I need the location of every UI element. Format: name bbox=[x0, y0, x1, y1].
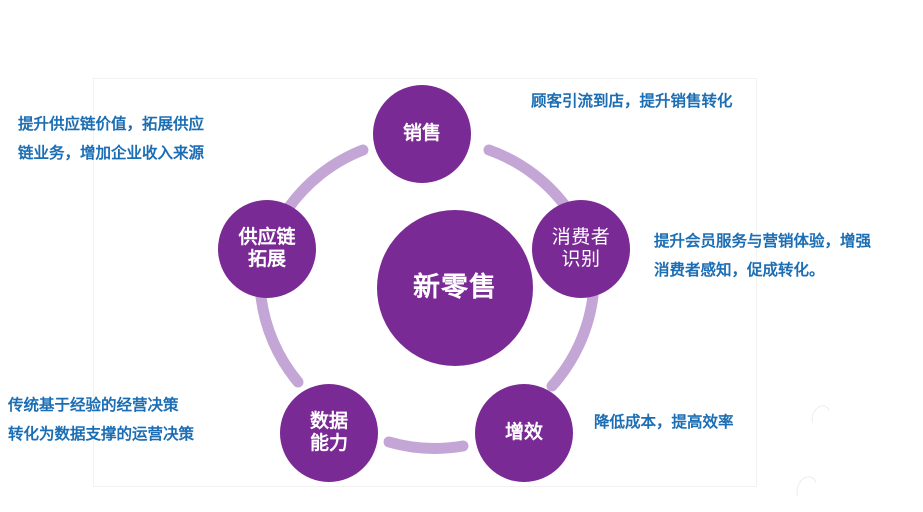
callout-supply-chain: 提升供应链价值，拓展供应 链业务，增加企业收入来源 bbox=[18, 111, 204, 168]
node-consumer-recognition[interactable]: 消费者 识别 bbox=[532, 200, 630, 298]
node-efficiency-label: 增效 bbox=[505, 422, 543, 444]
node-data-capability[interactable]: 数据 能力 bbox=[280, 384, 378, 482]
ring-arc-top-right bbox=[489, 150, 569, 211]
callout-efficiency: 降低成本，提高效率 bbox=[594, 409, 734, 438]
callout-data-capability: 传统基于经验的经营决策 转化为数据支撑的运营决策 bbox=[8, 392, 194, 449]
node-data-capability-label-line2: 能力 bbox=[310, 433, 348, 455]
node-sales-label: 销售 bbox=[403, 123, 441, 145]
node-consumer-recognition-label-line1: 消费者 bbox=[552, 227, 611, 249]
callout-consumer-recognition-line1: 提升会员服务与营销体验，增强 bbox=[654, 228, 871, 257]
node-efficiency[interactable]: 增效 bbox=[475, 384, 573, 482]
callout-supply-chain-line2: 链业务，增加企业收入来源 bbox=[18, 140, 204, 169]
callout-supply-chain-line1: 提升供应链价值，拓展供应 bbox=[18, 111, 204, 140]
node-consumer-recognition-label-line2: 识别 bbox=[561, 249, 600, 271]
callout-data-capability-line1: 传统基于经验的经营决策 bbox=[8, 392, 194, 421]
slide-canvas: 新零售 销售 消费者 识别 增效 数据 能力 供应链 拓展 提升供应链价值，拓展… bbox=[0, 0, 923, 512]
callout-efficiency-line1: 降低成本，提高效率 bbox=[594, 409, 734, 438]
node-center-label: 新零售 bbox=[413, 272, 497, 304]
callout-consumer-recognition-line2: 消费者感知，促成转化。 bbox=[654, 257, 871, 286]
ring-arc-bottom bbox=[389, 442, 463, 448]
decorative-arc-artifact-upper bbox=[808, 403, 833, 432]
decorative-arc-artifact-lower bbox=[793, 473, 821, 504]
node-center-new-retail[interactable]: 新零售 bbox=[377, 210, 533, 366]
node-sales[interactable]: 销售 bbox=[373, 85, 471, 183]
ring-arc-left-top bbox=[287, 150, 363, 210]
node-data-capability-label-line1: 数据 bbox=[310, 411, 348, 433]
node-supply-chain-expansion[interactable]: 供应链 拓展 bbox=[218, 200, 316, 298]
node-supply-chain-expansion-label-line2: 拓展 bbox=[248, 249, 286, 271]
node-supply-chain-expansion-label-line1: 供应链 bbox=[238, 227, 295, 249]
ring-arc-bottom-left bbox=[261, 297, 298, 382]
callout-sales-line1: 顾客引流到店，提升销售转化 bbox=[531, 88, 733, 117]
callout-consumer-recognition: 提升会员服务与营销体验，增强 消费者感知，促成转化。 bbox=[654, 228, 871, 285]
ring-arc-right-bottom bbox=[552, 296, 593, 386]
callout-data-capability-line2: 转化为数据支撑的运营决策 bbox=[8, 421, 194, 450]
callout-sales: 顾客引流到店，提升销售转化 bbox=[531, 88, 733, 117]
